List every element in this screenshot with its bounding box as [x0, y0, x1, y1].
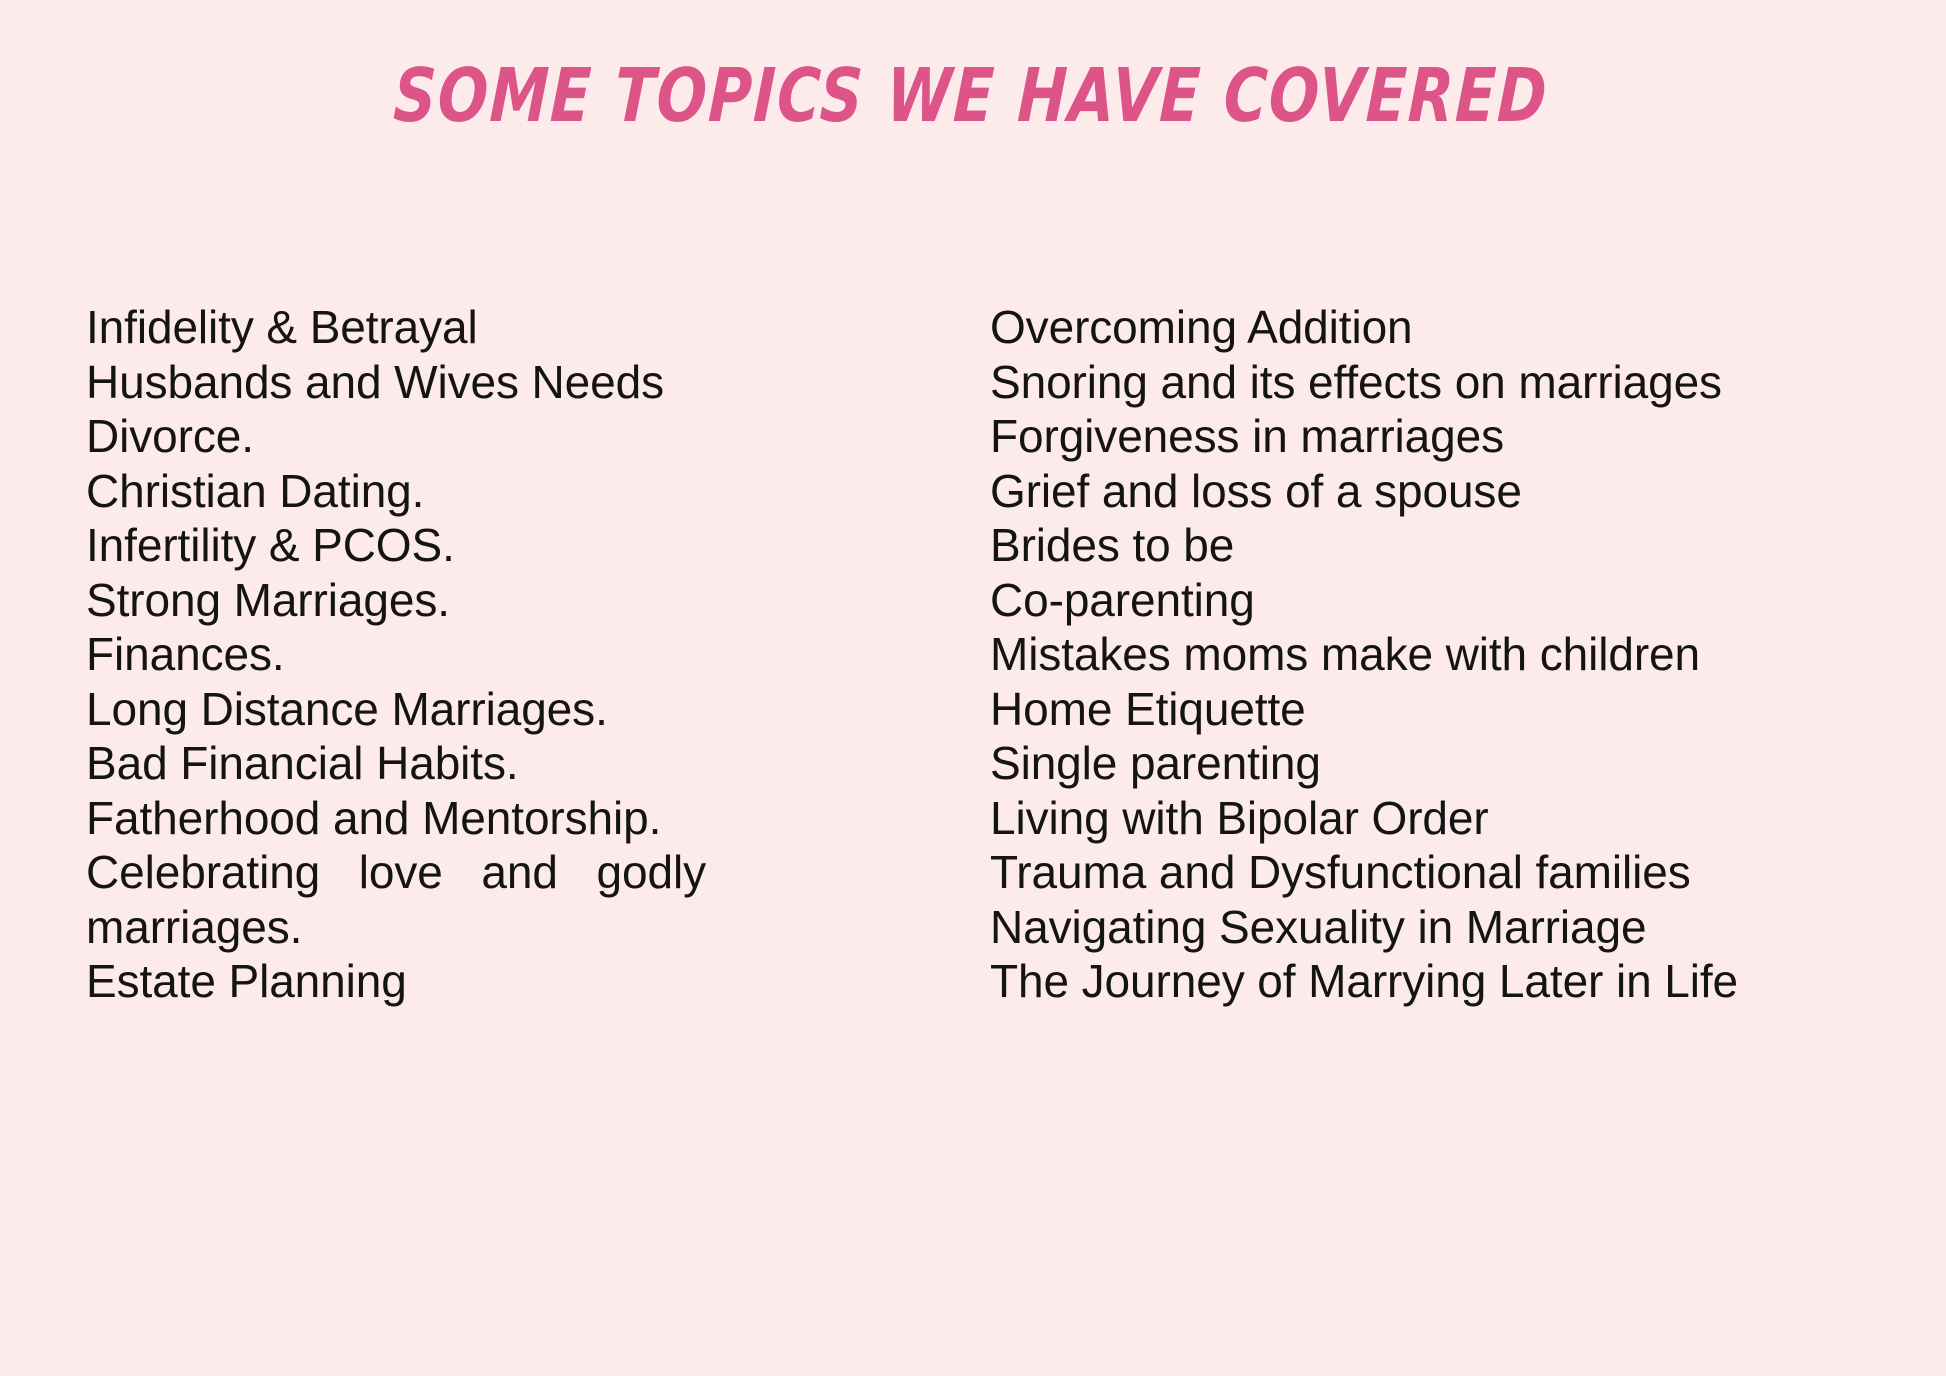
topic-item: Single parenting: [990, 736, 1926, 791]
topic-item: Long Distance Marriages.: [86, 682, 880, 737]
page-title-container: SOME TOPICS WE HAVE COVERED: [0, 58, 1946, 135]
topics-columns: Infidelity & BetrayalHusbands and Wives …: [0, 300, 1946, 1300]
topic-item: Finances.: [86, 627, 880, 682]
topic-item: Husbands and Wives Needs: [86, 355, 880, 410]
topic-item: Co-parenting: [990, 573, 1926, 628]
topic-item: Grief and loss of a spouse: [990, 464, 1926, 519]
topic-item: Divorce.: [86, 409, 880, 464]
topics-column-left: Infidelity & BetrayalHusbands and Wives …: [0, 300, 900, 1009]
topic-item: Living with Bipolar Order: [990, 791, 1926, 846]
topic-item: Snoring and its effects on marriages: [990, 355, 1926, 410]
topic-item: Forgiveness in marriages: [990, 409, 1926, 464]
poster-canvas: SOME TOPICS WE HAVE COVERED Infidelity &…: [0, 0, 1946, 1376]
topic-item: Infertility & PCOS.: [86, 518, 880, 573]
topic-item: Infidelity & Betrayal: [86, 300, 880, 355]
topic-item: Brides to be: [990, 518, 1926, 573]
topic-item: Mistakes moms make with children: [990, 627, 1926, 682]
topic-item: Christian Dating.: [86, 464, 880, 519]
topic-list-right: Overcoming AdditionSnoring and its effec…: [990, 300, 1926, 1009]
page-title: SOME TOPICS WE HAVE COVERED: [393, 58, 1551, 135]
topic-item: Fatherhood and Mentorship.: [86, 791, 880, 846]
topics-column-right: Overcoming AdditionSnoring and its effec…: [900, 300, 1946, 1009]
topic-item: Navigating Sexuality in Marriage: [990, 900, 1926, 955]
topic-item: Bad Financial Habits.: [86, 736, 880, 791]
topic-item: Strong Marriages.: [86, 573, 880, 628]
topic-item: Estate Planning: [86, 954, 880, 1009]
topic-list-left: Infidelity & BetrayalHusbands and Wives …: [86, 300, 880, 1009]
topic-item: Home Etiquette: [990, 682, 1926, 737]
topic-item: Trauma and Dysfunctional families: [990, 845, 1926, 900]
topic-item: The Journey of Marrying Later in Life: [990, 954, 1926, 1009]
topic-item: Celebrating love and godly marriages.: [86, 845, 706, 954]
topic-item: Overcoming Addition: [990, 300, 1926, 355]
